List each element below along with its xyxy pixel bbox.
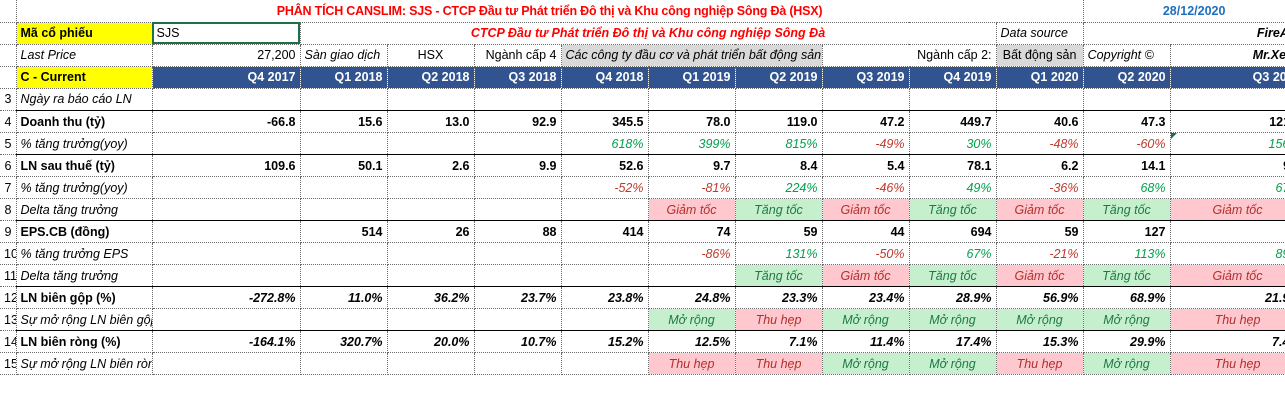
cell-ln-bien-gop-q3-2020[interactable]: 21.9% bbox=[1170, 287, 1285, 309]
cell-tang-truong-yoy-q3-2020[interactable]: 67% bbox=[1170, 177, 1285, 199]
cell-ln-sau-thue-ty-q2-2018[interactable]: 2.6 bbox=[387, 155, 474, 177]
metric-label-ln-bien-gop: LN biên gộp (%) bbox=[16, 287, 152, 309]
column-header-q2-2019[interactable]: Q2 2019 bbox=[735, 66, 822, 88]
cell-doanh-thu-ty-q4-2018[interactable]: 345.5 bbox=[561, 111, 648, 133]
row-number-gutter: 3 bbox=[0, 89, 16, 111]
cell-delta-tang-truong-q3-2020[interactable]: Giảm tốc bbox=[1170, 199, 1285, 221]
cell-su-mo-rong-ln-bien-rong-q4-2017[interactable] bbox=[152, 353, 300, 375]
cell-ln-sau-thue-ty-q3-2018[interactable]: 9.9 bbox=[474, 155, 561, 177]
column-header-q4-2018[interactable]: Q4 2018 bbox=[561, 66, 648, 88]
table-row: 11Delta tăng trưởngTăng tốcGiảm tốcTăng … bbox=[0, 265, 1285, 287]
metric-label-ln-sau-thue-ty: LN sau thuế (tỷ) bbox=[16, 155, 152, 177]
cell-tang-truong-eps-q3-2019[interactable]: -50% bbox=[822, 243, 909, 265]
cell-ngay-ra-bao-cao-ln-q4-2019[interactable] bbox=[909, 89, 996, 111]
column-header-q4-2017[interactable]: Q4 2017 bbox=[152, 66, 300, 88]
cell-ln-bien-rong-q3-2020[interactable]: 7.4% bbox=[1170, 331, 1285, 353]
cell-tang-truong-yoy-q2-2019[interactable]: 815% bbox=[735, 133, 822, 155]
cell-delta-tang-truong-q1-2018[interactable] bbox=[300, 265, 387, 287]
cell-tang-truong-yoy-q2-2019[interactable]: 224% bbox=[735, 177, 822, 199]
table-row: 3Ngày ra báo cáo LN bbox=[0, 89, 1285, 111]
column-header-q2-2018[interactable]: Q2 2018 bbox=[387, 66, 474, 88]
row-number-gutter: 9 bbox=[0, 221, 16, 243]
cell-tang-truong-yoy-q3-2018[interactable] bbox=[474, 177, 561, 199]
cell-ln-sau-thue-ty-q1-2019[interactable]: 9.7 bbox=[648, 155, 735, 177]
cell-su-mo-rong-ln-bien-rong-q1-2018[interactable] bbox=[300, 353, 387, 375]
cell-su-mo-rong-ln-bien-gop-q2-2020[interactable]: Mở rộng bbox=[1083, 309, 1170, 331]
cell-su-mo-rong-ln-bien-gop-q3-2018[interactable] bbox=[474, 309, 561, 331]
cell-tang-truong-eps-q4-2017[interactable] bbox=[152, 243, 300, 265]
ticker-row: Mã cổ phiếu SJS CTCP Đầu tư Phát triển Đ… bbox=[0, 22, 1285, 44]
cell-eps-cb-dong-q3-2018[interactable]: 88 bbox=[474, 221, 561, 243]
cell-tang-truong-yoy-q2-2020[interactable]: -60% bbox=[1083, 133, 1170, 155]
cell-doanh-thu-ty-q1-2019[interactable]: 78.0 bbox=[648, 111, 735, 133]
industry-level2-value: Bất động sản bbox=[996, 44, 1083, 66]
cell-su-mo-rong-ln-bien-rong-q3-2018[interactable] bbox=[474, 353, 561, 375]
cell-ngay-ra-bao-cao-ln-q2-2019[interactable] bbox=[735, 89, 822, 111]
cell-eps-cb-dong-q2-2020[interactable]: 127 bbox=[1083, 221, 1170, 243]
cell-tang-truong-yoy-q1-2020[interactable]: -36% bbox=[996, 177, 1083, 199]
metric-label-eps-cb-dong: EPS.CB (đồng) bbox=[16, 221, 152, 243]
table-row: 8Delta tăng trưởngGiảm tốcTăng tốcGiảm t… bbox=[0, 199, 1285, 221]
cell-ln-bien-gop-q1-2018[interactable]: 11.0% bbox=[300, 287, 387, 309]
cell-tang-truong-eps-q1-2019[interactable]: -86% bbox=[648, 243, 735, 265]
row-number-gutter bbox=[0, 22, 16, 44]
metric-label-su-mo-rong-ln-bien-rong: Sự mở rộng LN biên ròng bbox=[16, 353, 152, 375]
cell-tang-truong-eps-q2-2018[interactable] bbox=[387, 243, 474, 265]
row-number-gutter: 11 bbox=[0, 265, 16, 287]
cell-ln-bien-rong-q2-2018[interactable]: 20.0% bbox=[387, 331, 474, 353]
copyright-value: Mr.Xeko bbox=[1170, 44, 1285, 66]
cell-eps-cb-dong-q4-2019[interactable]: 694 bbox=[909, 221, 996, 243]
cell-delta-tang-truong-q4-2019[interactable]: Tăng tốc bbox=[909, 265, 996, 287]
data-source-value: FireAnt bbox=[1083, 22, 1285, 44]
cell-delta-tang-truong-q1-2019[interactable]: Giảm tốc bbox=[648, 199, 735, 221]
cell-tang-truong-eps-q3-2020[interactable]: 89% bbox=[1170, 243, 1285, 265]
cell-su-mo-rong-ln-bien-rong-q3-2020[interactable]: Thu hẹp bbox=[1170, 353, 1285, 375]
cell-doanh-thu-ty-q3-2020[interactable]: 121.1 bbox=[1170, 111, 1285, 133]
cell-su-mo-rong-ln-bien-gop-q3-2020[interactable]: Thu hẹp bbox=[1170, 309, 1285, 331]
cell-su-mo-rong-ln-bien-rong-q2-2019[interactable]: Thu hẹp bbox=[735, 353, 822, 375]
cell-ngay-ra-bao-cao-ln-q1-2018[interactable] bbox=[300, 89, 387, 111]
cell-su-mo-rong-ln-bien-gop-q4-2017[interactable] bbox=[152, 309, 300, 331]
cell-su-mo-rong-ln-bien-rong-q3-2019[interactable]: Mở rộng bbox=[822, 353, 909, 375]
column-header-q4-2019[interactable]: Q4 2019 bbox=[909, 66, 996, 88]
row-number-gutter bbox=[0, 0, 16, 22]
spreadsheet-canvas: PHÂN TÍCH CANSLIM: SJS - CTCP Đầu tư Phá… bbox=[0, 0, 1285, 400]
cell-delta-tang-truong-q2-2020[interactable]: Tăng tốc bbox=[1083, 265, 1170, 287]
cell-tang-truong-eps-q1-2018[interactable] bbox=[300, 243, 387, 265]
cell-ln-bien-gop-q1-2019[interactable]: 24.8% bbox=[648, 287, 735, 309]
row-number-gutter bbox=[0, 44, 16, 66]
cell-tang-truong-eps-q3-2018[interactable] bbox=[474, 243, 561, 265]
metric-label-tang-truong-yoy: % tăng trưởng(yoy) bbox=[16, 177, 152, 199]
cell-ngay-ra-bao-cao-ln-q4-2018[interactable] bbox=[561, 89, 648, 111]
cell-delta-tang-truong-q1-2020[interactable]: Giảm tốc bbox=[996, 199, 1083, 221]
cell-su-mo-rong-ln-bien-gop-q4-2018[interactable] bbox=[561, 309, 648, 331]
cell-tang-truong-eps-q4-2018[interactable] bbox=[561, 243, 648, 265]
cell-eps-cb-dong-q1-2018[interactable]: 514 bbox=[300, 221, 387, 243]
cell-ln-bien-gop-q4-2018[interactable]: 23.8% bbox=[561, 287, 648, 309]
cell-delta-tang-truong-q2-2019[interactable]: Tăng tốc bbox=[735, 199, 822, 221]
cell-doanh-thu-ty-q3-2018[interactable]: 92.9 bbox=[474, 111, 561, 133]
metric-label-su-mo-rong-ln-bien-gop: Sự mở rộng LN biên gộp bbox=[16, 309, 152, 331]
cell-delta-tang-truong-q3-2020[interactable]: Giảm tốc bbox=[1170, 265, 1285, 287]
cell-ln-bien-gop-q3-2019[interactable]: 23.4% bbox=[822, 287, 909, 309]
quarter-header-row: C - Current Q4 2017 Q1 2018 Q2 2018 Q3 2… bbox=[0, 66, 1285, 88]
row-number-gutter: 8 bbox=[0, 199, 16, 221]
cell-tang-truong-yoy-q4-2017[interactable] bbox=[152, 177, 300, 199]
cell-tang-truong-yoy-q4-2019[interactable]: 49% bbox=[909, 177, 996, 199]
row-number-gutter: 10 bbox=[0, 243, 16, 265]
cell-delta-tang-truong-q2-2018[interactable] bbox=[387, 265, 474, 287]
row-number-gutter: 13 bbox=[0, 309, 16, 331]
last-price-label: Last Price bbox=[16, 44, 152, 66]
row-number-gutter: 4 bbox=[0, 111, 16, 133]
cell-ngay-ra-bao-cao-ln-q4-2017[interactable] bbox=[152, 89, 300, 111]
column-header-q1-2018[interactable]: Q1 2018 bbox=[300, 66, 387, 88]
column-header-q3-2019[interactable]: Q3 2019 bbox=[822, 66, 909, 88]
column-header-q1-2020[interactable]: Q1 2020 bbox=[996, 66, 1083, 88]
cell-ln-bien-rong-q4-2017[interactable]: -164.1% bbox=[152, 331, 300, 353]
cell-delta-tang-truong-q2-2020[interactable]: Tăng tốc bbox=[1083, 199, 1170, 221]
cell-delta-tang-truong-q4-2017[interactable] bbox=[152, 265, 300, 287]
cell-doanh-thu-ty-q2-2018[interactable]: 13.0 bbox=[387, 111, 474, 133]
cell-su-mo-rong-ln-bien-rong-q2-2020[interactable]: Mở rộng bbox=[1083, 353, 1170, 375]
cell-su-mo-rong-ln-bien-gop-q3-2019[interactable]: Mở rộng bbox=[822, 309, 909, 331]
cell-doanh-thu-ty-q3-2019[interactable]: 47.2 bbox=[822, 111, 909, 133]
cell-delta-tang-truong-q1-2019[interactable] bbox=[648, 265, 735, 287]
cell-delta-tang-truong-q4-2018[interactable] bbox=[561, 265, 648, 287]
cell-ngay-ra-bao-cao-ln-q1-2019[interactable] bbox=[648, 89, 735, 111]
cell-ln-bien-rong-q2-2019[interactable]: 7.1% bbox=[735, 331, 822, 353]
analysis-sheet: PHÂN TÍCH CANSLIM: SJS - CTCP Đầu tư Phá… bbox=[0, 0, 1285, 89]
cell-tang-truong-yoy-q3-2018[interactable] bbox=[474, 133, 561, 155]
cell-eps-cb-dong-q2-2019[interactable]: 59 bbox=[735, 221, 822, 243]
c-current-label: C - Current bbox=[16, 66, 152, 88]
cell-delta-tang-truong-q3-2019[interactable]: Giảm tốc bbox=[822, 199, 909, 221]
cell-su-mo-rong-ln-bien-gop-q2-2019[interactable]: Thu hẹp bbox=[735, 309, 822, 331]
cell-su-mo-rong-ln-bien-rong-q1-2019[interactable]: Thu hẹp bbox=[648, 353, 735, 375]
cell-delta-tang-truong-q1-2020[interactable]: Giảm tốc bbox=[996, 265, 1083, 287]
cell-ln-bien-rong-q4-2019[interactable]: 17.4% bbox=[909, 331, 996, 353]
cell-su-mo-rong-ln-bien-gop-q1-2020[interactable]: Mở rộng bbox=[996, 309, 1083, 331]
cell-ln-sau-thue-ty-q3-2020[interactable]: 9.0 bbox=[1170, 155, 1285, 177]
cell-eps-cb-dong-q2-2018[interactable]: 26 bbox=[387, 221, 474, 243]
cell-tang-truong-yoy-q4-2017[interactable] bbox=[152, 133, 300, 155]
cell-doanh-thu-ty-q2-2020[interactable]: 47.3 bbox=[1083, 111, 1170, 133]
cell-eps-cb-dong-q1-2020[interactable]: 59 bbox=[996, 221, 1083, 243]
cell-su-mo-rong-ln-bien-gop-q1-2019[interactable]: Mở rộng bbox=[648, 309, 735, 331]
cell-ln-bien-rong-q1-2018[interactable]: 320.7% bbox=[300, 331, 387, 353]
cell-eps-cb-dong-q1-2019[interactable]: 74 bbox=[648, 221, 735, 243]
cell-su-mo-rong-ln-bien-rong-q1-2020[interactable]: Thu hẹp bbox=[996, 353, 1083, 375]
cell-tang-truong-yoy-q3-2020[interactable]: 156% bbox=[1170, 133, 1285, 155]
cell-tang-truong-eps-q2-2020[interactable]: 113% bbox=[1083, 243, 1170, 265]
cell-tang-truong-yoy-q1-2020[interactable]: -48% bbox=[996, 133, 1083, 155]
cell-doanh-thu-ty-q1-2018[interactable]: 15.6 bbox=[300, 111, 387, 133]
cell-ln-sau-thue-ty-q2-2020[interactable]: 14.1 bbox=[1083, 155, 1170, 177]
cell-doanh-thu-ty-q2-2019[interactable]: 119.0 bbox=[735, 111, 822, 133]
cell-ln-bien-gop-q2-2018[interactable]: 36.2% bbox=[387, 287, 474, 309]
last-price-value: 27,200 bbox=[152, 44, 300, 66]
metric-label-tang-truong-eps: % tăng trưởng EPS bbox=[16, 243, 152, 265]
exchange-label: Sàn giao dịch bbox=[300, 44, 387, 66]
cell-ln-bien-rong-q1-2019[interactable]: 12.5% bbox=[648, 331, 735, 353]
cell-delta-tang-truong-q3-2019[interactable]: Giảm tốc bbox=[822, 265, 909, 287]
cell-ngay-ra-bao-cao-ln-q3-2020[interactable] bbox=[1170, 89, 1285, 111]
row-number-gutter: 12 bbox=[0, 287, 16, 309]
cell-doanh-thu-ty-q4-2017[interactable]: -66.8 bbox=[152, 111, 300, 133]
report-date: 28/12/2020 bbox=[1083, 0, 1285, 22]
cell-tang-truong-yoy-q1-2019[interactable]: 399% bbox=[648, 133, 735, 155]
cell-eps-cb-dong-q4-2018[interactable]: 414 bbox=[561, 221, 648, 243]
company-name: CTCP Đầu tư Phát triển Đô thị và Khu côn… bbox=[300, 22, 996, 44]
cell-eps-cb-dong-q3-2020[interactable]: 84 bbox=[1170, 221, 1285, 243]
copyright-label: Copyright © bbox=[1083, 44, 1170, 66]
cell-ngay-ra-bao-cao-ln-q3-2018[interactable] bbox=[474, 89, 561, 111]
table-row: 15Sự mở rộng LN biên ròngThu hẹpThu hẹpM… bbox=[0, 353, 1285, 375]
cell-ngay-ra-bao-cao-ln-q1-2020[interactable] bbox=[996, 89, 1083, 111]
cell-su-mo-rong-ln-bien-rong-q4-2019[interactable]: Mở rộng bbox=[909, 353, 996, 375]
ticker-label: Mã cổ phiếu bbox=[16, 22, 152, 44]
cell-doanh-thu-ty-q4-2019[interactable]: 449.7 bbox=[909, 111, 996, 133]
cell-ln-bien-gop-q4-2019[interactable]: 28.9% bbox=[909, 287, 996, 309]
cell-ln-bien-gop-q3-2018[interactable]: 23.7% bbox=[474, 287, 561, 309]
cell-tang-truong-yoy-q4-2018[interactable]: -52% bbox=[561, 177, 648, 199]
ticker-input[interactable]: SJS bbox=[152, 22, 300, 44]
cell-su-mo-rong-ln-bien-gop-q1-2018[interactable] bbox=[300, 309, 387, 331]
cell-eps-cb-dong-q4-2017[interactable] bbox=[152, 221, 300, 243]
cell-delta-tang-truong-q4-2019[interactable]: Tăng tốc bbox=[909, 199, 996, 221]
cell-ngay-ra-bao-cao-ln-q3-2019[interactable] bbox=[822, 89, 909, 111]
cell-tang-truong-yoy-q3-2019[interactable]: -49% bbox=[822, 133, 909, 155]
row-number-gutter: 6 bbox=[0, 155, 16, 177]
cell-tang-truong-yoy-q3-2019[interactable]: -46% bbox=[822, 177, 909, 199]
cell-tang-truong-yoy-q1-2018[interactable] bbox=[300, 177, 387, 199]
cell-ln-bien-gop-q1-2020[interactable]: 56.9% bbox=[996, 287, 1083, 309]
column-header-q2-2020[interactable]: Q2 2020 bbox=[1083, 66, 1170, 88]
cell-su-mo-rong-ln-bien-gop-q4-2019[interactable]: Mở rộng bbox=[909, 309, 996, 331]
cell-tang-truong-yoy-q4-2018[interactable]: 618% bbox=[561, 133, 648, 155]
table-row: 14LN biên ròng (%)-164.1%320.7%20.0%10.7… bbox=[0, 331, 1285, 353]
table-row: 4Doanh thu (tỷ)-66.815.613.092.9345.578.… bbox=[0, 111, 1285, 133]
cell-su-mo-rong-ln-bien-gop-q2-2018[interactable] bbox=[387, 309, 474, 331]
column-header-q3-2020[interactable]: Q3 2020 bbox=[1170, 66, 1285, 88]
metric-label-ln-bien-rong: LN biên ròng (%) bbox=[16, 331, 152, 353]
cell-ln-sau-thue-ty-q3-2019[interactable]: 5.4 bbox=[822, 155, 909, 177]
cell-delta-tang-truong-q2-2019[interactable]: Tăng tốc bbox=[735, 265, 822, 287]
data-source-label: Data source bbox=[996, 22, 1083, 44]
cell-tang-truong-eps-q4-2019[interactable]: 67% bbox=[909, 243, 996, 265]
industry-level2-label: Ngành cấp 2: bbox=[822, 44, 996, 66]
last-price-row: Last Price 27,200 Sàn giao dịch HSX Ngàn… bbox=[0, 44, 1285, 66]
column-header-q1-2019[interactable]: Q1 2019 bbox=[648, 66, 735, 88]
table-row: 5% tăng trưởng(yoy)618%399%815%-49%30%-4… bbox=[0, 133, 1285, 155]
cell-ln-bien-rong-q2-2020[interactable]: 29.9% bbox=[1083, 331, 1170, 353]
cell-delta-tang-truong-q2-2018[interactable] bbox=[387, 199, 474, 221]
table-row: 12LN biên gộp (%)-272.8%11.0%36.2%23.7%2… bbox=[0, 287, 1285, 309]
row-number-gutter: 7 bbox=[0, 177, 16, 199]
cell-tang-truong-eps-q1-2020[interactable]: -21% bbox=[996, 243, 1083, 265]
cell-tang-truong-yoy-q1-2019[interactable]: -81% bbox=[648, 177, 735, 199]
metric-label-delta-tang-truong: Delta tăng trưởng bbox=[16, 199, 152, 221]
cell-ln-sau-thue-ty-q1-2018[interactable]: 50.1 bbox=[300, 155, 387, 177]
cell-ln-sau-thue-ty-q4-2017[interactable]: 109.6 bbox=[152, 155, 300, 177]
table-row: 7% tăng trưởng(yoy)-52%-81%224%-46%49%-3… bbox=[0, 177, 1285, 199]
table-row: 9EPS.CB (đồng)51426884147459446945912784 bbox=[0, 221, 1285, 243]
title-row: PHÂN TÍCH CANSLIM: SJS - CTCP Đầu tư Phá… bbox=[0, 0, 1285, 22]
industry-level4-value: Các công ty đầu cơ và phát triển bất độn… bbox=[561, 44, 822, 66]
cell-ln-bien-gop-q4-2017[interactable]: -272.8% bbox=[152, 287, 300, 309]
cell-tang-truong-yoy-q2-2018[interactable] bbox=[387, 133, 474, 155]
exchange-value: HSX bbox=[387, 44, 474, 66]
cell-su-mo-rong-ln-bien-rong-q4-2018[interactable] bbox=[561, 353, 648, 375]
row-number-gutter: 15 bbox=[0, 353, 16, 375]
cell-eps-cb-dong-q3-2019[interactable]: 44 bbox=[822, 221, 909, 243]
cell-ln-bien-rong-q1-2020[interactable]: 15.3% bbox=[996, 331, 1083, 353]
industry-level4-label: Ngành cấp 4 bbox=[474, 44, 561, 66]
cell-delta-tang-truong-q3-2018[interactable] bbox=[474, 265, 561, 287]
cell-ln-bien-rong-q3-2019[interactable]: 11.4% bbox=[822, 331, 909, 353]
cell-ln-sau-thue-ty-q1-2020[interactable]: 6.2 bbox=[996, 155, 1083, 177]
cell-ln-sau-thue-ty-q2-2019[interactable]: 8.4 bbox=[735, 155, 822, 177]
metric-label-delta-tang-truong: Delta tăng trưởng bbox=[16, 265, 152, 287]
column-header-q3-2018[interactable]: Q3 2018 bbox=[474, 66, 561, 88]
cell-delta-tang-truong-q3-2018[interactable] bbox=[474, 199, 561, 221]
cell-delta-tang-truong-q4-2017[interactable] bbox=[152, 199, 300, 221]
cell-delta-tang-truong-q1-2018[interactable] bbox=[300, 199, 387, 221]
cell-ln-bien-gop-q2-2019[interactable]: 23.3% bbox=[735, 287, 822, 309]
cell-tang-truong-eps-q2-2019[interactable]: 131% bbox=[735, 243, 822, 265]
cell-delta-tang-truong-q4-2018[interactable] bbox=[561, 199, 648, 221]
cell-ngay-ra-bao-cao-ln-q2-2020[interactable] bbox=[1083, 89, 1170, 111]
metrics-table: 3Ngày ra báo cáo LN4Doanh thu (tỷ)-66.81… bbox=[0, 89, 1285, 376]
cell-ln-bien-rong-q4-2018[interactable]: 15.2% bbox=[561, 331, 648, 353]
cell-su-mo-rong-ln-bien-rong-q2-2018[interactable] bbox=[387, 353, 474, 375]
cell-ln-sau-thue-ty-q4-2019[interactable]: 78.1 bbox=[909, 155, 996, 177]
table-row: 10% tăng trưởng EPS-86%131%-50%67%-21%11… bbox=[0, 243, 1285, 265]
cell-ngay-ra-bao-cao-ln-q2-2018[interactable] bbox=[387, 89, 474, 111]
row-number-gutter: 14 bbox=[0, 331, 16, 353]
cell-tang-truong-yoy-q2-2020[interactable]: 68% bbox=[1083, 177, 1170, 199]
metric-label-ngay-ra-bao-cao-ln: Ngày ra báo cáo LN bbox=[16, 89, 152, 111]
cell-tang-truong-yoy-q4-2019[interactable]: 30% bbox=[909, 133, 996, 155]
page-title: PHÂN TÍCH CANSLIM: SJS - CTCP Đầu tư Phá… bbox=[16, 0, 1083, 22]
cell-ln-bien-rong-q3-2018[interactable]: 10.7% bbox=[474, 331, 561, 353]
table-row: 6LN sau thuế (tỷ)109.650.12.69.952.69.78… bbox=[0, 155, 1285, 177]
row-number-gutter: 5 bbox=[0, 133, 16, 155]
cell-ln-sau-thue-ty-q4-2018[interactable]: 52.6 bbox=[561, 155, 648, 177]
cell-ln-bien-gop-q2-2020[interactable]: 68.9% bbox=[1083, 287, 1170, 309]
row-number-gutter bbox=[0, 66, 16, 88]
cell-tang-truong-yoy-q1-2018[interactable] bbox=[300, 133, 387, 155]
cell-tang-truong-yoy-q2-2018[interactable] bbox=[387, 177, 474, 199]
table-row: 13Sự mở rộng LN biên gộpMở rộngThu hẹpMở… bbox=[0, 309, 1285, 331]
metric-label-tang-truong-yoy: % tăng trưởng(yoy) bbox=[16, 133, 152, 155]
cell-doanh-thu-ty-q1-2020[interactable]: 40.6 bbox=[996, 111, 1083, 133]
metric-label-doanh-thu-ty: Doanh thu (tỷ) bbox=[16, 111, 152, 133]
